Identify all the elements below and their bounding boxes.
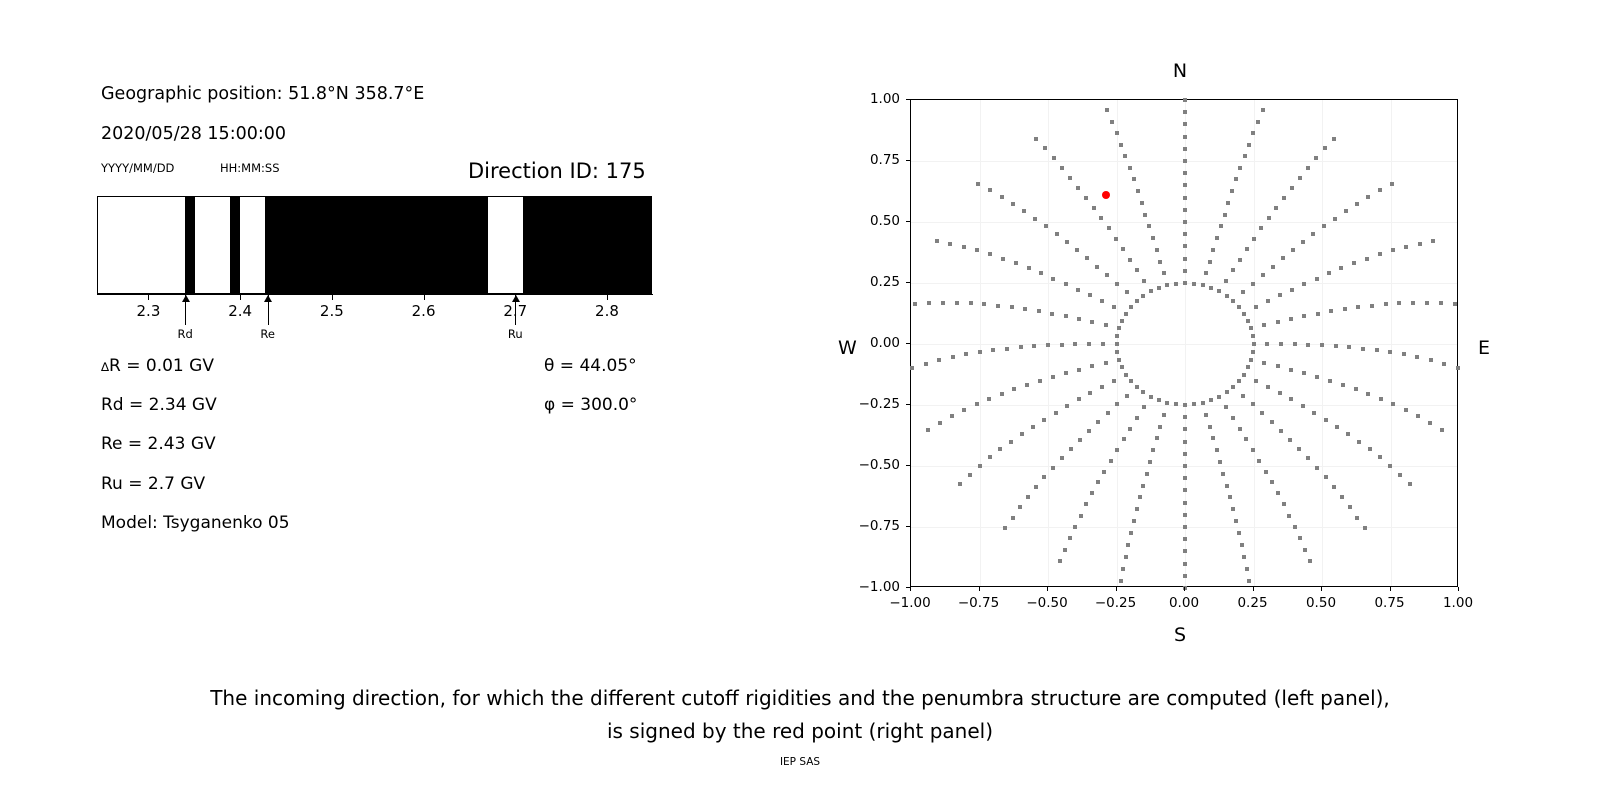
penumbra-forbidden-band bbox=[523, 197, 651, 293]
direction-point bbox=[1104, 323, 1108, 327]
direction-point bbox=[1037, 309, 1041, 313]
penumbra-forbidden-band bbox=[230, 197, 240, 293]
direction-point bbox=[1076, 288, 1080, 292]
direction-point bbox=[1303, 548, 1307, 552]
direction-point bbox=[1209, 286, 1213, 290]
direction-point bbox=[1073, 525, 1077, 529]
compass-label-west: W bbox=[838, 337, 857, 359]
direction-point bbox=[1145, 472, 1149, 476]
direction-point bbox=[1120, 365, 1124, 369]
direction-point bbox=[1215, 448, 1219, 452]
direction-point bbox=[1075, 248, 1079, 252]
direction-point bbox=[1112, 379, 1116, 383]
direction-point bbox=[998, 447, 1002, 451]
direction-point bbox=[1298, 536, 1302, 540]
direction-point bbox=[1252, 237, 1256, 241]
direction-point bbox=[1014, 261, 1018, 265]
direction-point bbox=[1060, 343, 1064, 347]
direction-point bbox=[1114, 237, 1118, 241]
penumbra-bar bbox=[97, 196, 652, 294]
direction-point bbox=[1234, 177, 1238, 181]
direction-point bbox=[1282, 502, 1286, 506]
direction-point bbox=[969, 301, 973, 305]
direction-point bbox=[1120, 319, 1124, 323]
direction-point bbox=[1271, 265, 1275, 269]
direction-point bbox=[1119, 579, 1123, 583]
direction-point bbox=[1010, 305, 1014, 309]
direction-point bbox=[1357, 440, 1361, 444]
direction-point bbox=[1064, 282, 1068, 286]
direction-point bbox=[1402, 352, 1406, 356]
direction-point bbox=[1044, 224, 1048, 228]
direction-point bbox=[955, 301, 959, 305]
direction-point bbox=[1265, 342, 1269, 346]
direction-point bbox=[1106, 411, 1110, 415]
direction-point bbox=[1022, 209, 1026, 213]
arrow-head-icon bbox=[264, 295, 272, 302]
direction-point bbox=[1251, 448, 1255, 452]
direction-point bbox=[941, 301, 945, 305]
compass-label-north: N bbox=[1173, 60, 1187, 82]
direction-point bbox=[1416, 414, 1420, 418]
y-tick-label: −0.50 bbox=[848, 457, 900, 473]
direction-id-text: Direction ID: 175 bbox=[468, 159, 646, 183]
direction-point bbox=[1085, 256, 1089, 260]
direction-point bbox=[1306, 166, 1310, 170]
direction-point bbox=[1121, 247, 1125, 251]
x-tick bbox=[1390, 587, 1391, 591]
direction-point bbox=[1251, 402, 1255, 406]
direction-point bbox=[1064, 314, 1068, 318]
direction-point bbox=[1078, 438, 1082, 442]
direction-point bbox=[1298, 176, 1302, 180]
direction-point bbox=[1060, 456, 1064, 460]
x-tick-label: −0.75 bbox=[958, 595, 999, 611]
direction-point bbox=[1221, 472, 1225, 476]
direction-point bbox=[1324, 475, 1328, 479]
direction-point bbox=[1142, 405, 1146, 409]
direction-point bbox=[991, 348, 995, 352]
direction-point bbox=[1425, 301, 1429, 305]
direction-point bbox=[1306, 456, 1310, 460]
direction-point bbox=[1257, 459, 1261, 463]
direction-point bbox=[1378, 252, 1382, 256]
direction-point bbox=[1183, 476, 1187, 480]
direction-point bbox=[1183, 452, 1187, 456]
direction-point bbox=[1266, 299, 1270, 303]
direction-point bbox=[935, 239, 939, 243]
direction-point bbox=[1356, 305, 1360, 309]
direction-point bbox=[1247, 579, 1251, 583]
direction-point bbox=[1352, 261, 1356, 265]
direction-point bbox=[1136, 189, 1140, 193]
direction-point bbox=[1034, 485, 1038, 489]
direction-point bbox=[1225, 484, 1229, 488]
direction-point bbox=[1077, 368, 1081, 372]
param-Re: Re = 2.43 GV bbox=[101, 434, 216, 454]
direction-point bbox=[1183, 415, 1187, 419]
y-tick-label: 0.75 bbox=[848, 152, 900, 168]
direction-point bbox=[1088, 293, 1092, 297]
direction-point bbox=[927, 301, 931, 305]
arrow-head-icon bbox=[182, 295, 190, 302]
direction-point bbox=[1243, 154, 1247, 158]
direction-point bbox=[1231, 299, 1235, 303]
direction-point bbox=[1135, 385, 1139, 389]
direction-point bbox=[1099, 216, 1103, 220]
direction-point bbox=[1217, 395, 1221, 399]
direction-point bbox=[1276, 320, 1280, 324]
direction-point bbox=[1069, 447, 1073, 451]
direction-point bbox=[1124, 373, 1128, 377]
direction-point bbox=[1246, 319, 1250, 323]
param-Rd: Rd = 2.34 GV bbox=[101, 395, 217, 415]
selected-direction-point[interactable] bbox=[1102, 191, 1110, 199]
direction-point bbox=[1192, 402, 1196, 406]
direction-point bbox=[1095, 265, 1099, 269]
direction-point bbox=[1128, 427, 1132, 431]
direction-point bbox=[1388, 350, 1392, 354]
direction-point bbox=[1065, 240, 1069, 244]
direction-point bbox=[1162, 271, 1166, 275]
direction-point bbox=[1126, 543, 1130, 547]
direction-point bbox=[1096, 420, 1100, 424]
direction-point bbox=[1378, 188, 1382, 192]
x-tick-label: 0.25 bbox=[1237, 595, 1267, 611]
direction-point bbox=[1183, 562, 1187, 566]
direction-point bbox=[1105, 273, 1109, 277]
direction-point bbox=[1218, 460, 1222, 464]
direction-point bbox=[1110, 120, 1114, 124]
direction-point bbox=[1183, 183, 1187, 187]
direction-point bbox=[1034, 137, 1038, 141]
direction-point bbox=[988, 455, 992, 459]
direction-point bbox=[1245, 567, 1249, 571]
x-tick-label: 0.00 bbox=[1169, 595, 1199, 611]
direction-point bbox=[1123, 154, 1127, 158]
direction-point bbox=[1088, 391, 1092, 395]
direction-point bbox=[1289, 368, 1293, 372]
direction-point bbox=[1279, 429, 1283, 433]
direction-point bbox=[1033, 217, 1037, 221]
direction-point bbox=[1354, 387, 1358, 391]
direction-point bbox=[1011, 516, 1015, 520]
direction-point bbox=[1158, 260, 1162, 264]
direction-point bbox=[1031, 425, 1035, 429]
direction-point bbox=[1140, 201, 1144, 205]
direction-point bbox=[1366, 195, 1370, 199]
direction-point bbox=[1183, 574, 1187, 578]
direction-point bbox=[1256, 120, 1260, 124]
direction-point bbox=[1032, 344, 1036, 348]
direction-point bbox=[1262, 323, 1266, 327]
datetime-text: 2020/05/28 15:00:00 bbox=[101, 124, 286, 144]
direction-point bbox=[1246, 365, 1250, 369]
direction-point bbox=[1324, 418, 1328, 422]
date-format-hint: YYYY/MM/DD bbox=[101, 161, 174, 175]
direction-point bbox=[1157, 286, 1161, 290]
direction-point bbox=[1027, 266, 1031, 270]
direction-point bbox=[1183, 403, 1187, 407]
direction-point bbox=[1398, 473, 1402, 477]
direction-point bbox=[1005, 347, 1009, 351]
x-tick-label: −0.50 bbox=[1026, 595, 1067, 611]
x-tick-label: 1.00 bbox=[1443, 595, 1473, 611]
param-delta-R: ∆R = 0.01 GV bbox=[101, 356, 214, 376]
direction-point bbox=[1329, 309, 1333, 313]
direction-point bbox=[1132, 177, 1136, 181]
direction-point bbox=[1282, 196, 1286, 200]
direction-point bbox=[1293, 525, 1297, 529]
direction-point bbox=[1100, 385, 1104, 389]
direction-point bbox=[1119, 143, 1123, 147]
direction-point bbox=[1242, 312, 1246, 316]
x-tick-label: −0.25 bbox=[1095, 595, 1136, 611]
direction-point bbox=[1129, 531, 1133, 535]
direction-point bbox=[1442, 362, 1446, 366]
direction-point bbox=[1183, 220, 1187, 224]
direction-point bbox=[1390, 182, 1394, 186]
direction-point bbox=[1000, 392, 1004, 396]
direction-point bbox=[1084, 196, 1088, 200]
y-tick-label: −1.00 bbox=[848, 579, 900, 595]
direction-point bbox=[1302, 371, 1306, 375]
direction-point bbox=[1267, 216, 1271, 220]
direction-point bbox=[1391, 402, 1395, 406]
direction-point bbox=[1026, 495, 1030, 499]
direction-point bbox=[1231, 507, 1235, 511]
direction-point bbox=[1278, 391, 1282, 395]
direction-point bbox=[937, 358, 941, 362]
direction-point bbox=[1228, 495, 1232, 499]
direction-point bbox=[1183, 147, 1187, 151]
direction-point bbox=[1344, 209, 1348, 213]
direction-point bbox=[1320, 343, 1324, 347]
direction-point bbox=[1312, 411, 1316, 415]
direction-point bbox=[988, 188, 992, 192]
direction-point bbox=[1240, 543, 1244, 547]
direction-point bbox=[1132, 519, 1136, 523]
direction-point bbox=[1183, 586, 1187, 590]
direction-point bbox=[1456, 366, 1460, 370]
direction-point bbox=[1327, 271, 1331, 275]
direction-point bbox=[1404, 245, 1408, 249]
x-tick bbox=[1047, 587, 1048, 591]
direction-point bbox=[958, 482, 962, 486]
penumbra-marker-label: Re bbox=[260, 327, 275, 341]
direction-point bbox=[1165, 283, 1169, 287]
direction-point bbox=[1254, 379, 1258, 383]
x-tick-label: 0.75 bbox=[1374, 595, 1404, 611]
direction-point bbox=[1262, 361, 1266, 365]
direction-point bbox=[1011, 202, 1015, 206]
direction-point bbox=[1293, 342, 1297, 346]
direction-point bbox=[1125, 394, 1129, 398]
direction-point bbox=[1183, 501, 1187, 505]
direction-point bbox=[1343, 307, 1347, 311]
direction-point bbox=[1090, 364, 1094, 368]
direction-point bbox=[1115, 350, 1119, 354]
direction-point bbox=[1332, 137, 1336, 141]
direction-point bbox=[1244, 437, 1248, 441]
direction-point bbox=[1234, 519, 1238, 523]
direction-point bbox=[1334, 344, 1338, 348]
direction-point bbox=[1050, 312, 1054, 316]
direction-point bbox=[1363, 526, 1367, 530]
direction-point bbox=[924, 362, 928, 366]
direction-point bbox=[1128, 258, 1132, 262]
direction-point bbox=[1231, 416, 1235, 420]
direction-point bbox=[1135, 268, 1139, 272]
direction-point bbox=[913, 302, 917, 306]
direction-point bbox=[1115, 334, 1119, 338]
direction-point bbox=[1084, 502, 1088, 506]
direction-point bbox=[978, 464, 982, 468]
param-Ru: Ru = 2.7 GV bbox=[101, 474, 205, 494]
direction-point bbox=[1109, 459, 1113, 463]
direction-point bbox=[1290, 186, 1294, 190]
direction-point bbox=[1391, 248, 1395, 252]
direction-point bbox=[1115, 282, 1119, 286]
direction-point bbox=[1238, 427, 1242, 431]
direction-point bbox=[1278, 293, 1282, 297]
direction-point bbox=[1270, 420, 1274, 424]
direction-point bbox=[1096, 480, 1100, 484]
direction-point bbox=[1019, 345, 1023, 349]
direction-point bbox=[1355, 516, 1359, 520]
direction-point bbox=[1375, 348, 1379, 352]
direction-point bbox=[1287, 514, 1291, 518]
param-theta: θ = 44.05° bbox=[544, 356, 637, 376]
direction-point bbox=[1306, 343, 1310, 347]
direction-point bbox=[1148, 460, 1152, 464]
direction-point bbox=[1079, 514, 1083, 518]
direction-point bbox=[1183, 440, 1187, 444]
direction-point bbox=[1183, 122, 1187, 126]
penumbra-forbidden-band bbox=[185, 197, 195, 293]
direction-point bbox=[1042, 475, 1046, 479]
direction-point bbox=[1225, 390, 1229, 394]
direction-point bbox=[1249, 358, 1253, 362]
direction-point bbox=[1368, 447, 1372, 451]
direction-point bbox=[982, 302, 986, 306]
direction-point bbox=[1051, 466, 1055, 470]
direction-point bbox=[1341, 383, 1345, 387]
direction-point bbox=[1439, 301, 1443, 305]
param-model: Model: Tsyganenko 05 bbox=[101, 513, 290, 533]
direction-point bbox=[1204, 413, 1208, 417]
direction-point bbox=[1245, 247, 1249, 251]
direction-point bbox=[1012, 387, 1016, 391]
direction-point bbox=[1384, 302, 1388, 306]
direction-point bbox=[1129, 305, 1133, 309]
direction-point bbox=[996, 304, 1000, 308]
direction-point bbox=[1365, 257, 1369, 261]
direction-point bbox=[1183, 488, 1187, 492]
direction-point bbox=[1151, 236, 1155, 240]
direction-point bbox=[1315, 277, 1319, 281]
direction-point bbox=[1251, 282, 1255, 286]
direction-point bbox=[1142, 279, 1146, 283]
direction-point bbox=[1379, 397, 1383, 401]
y-tick-label: 0.25 bbox=[848, 274, 900, 290]
direction-point bbox=[1366, 392, 1370, 396]
direction-point bbox=[1183, 513, 1187, 517]
direction-point bbox=[1219, 224, 1223, 228]
direction-point bbox=[1201, 401, 1205, 405]
direction-point bbox=[1143, 213, 1147, 217]
direction-point bbox=[1055, 232, 1059, 236]
direction-point bbox=[1023, 307, 1027, 311]
y-tick-label: 1.00 bbox=[848, 91, 900, 107]
direction-point bbox=[1204, 271, 1208, 275]
direction-point bbox=[962, 408, 966, 412]
direction-scatter-plot bbox=[910, 99, 1458, 587]
direction-point bbox=[1224, 279, 1228, 283]
direction-point bbox=[1141, 390, 1145, 394]
direction-point bbox=[1063, 548, 1067, 552]
direction-point bbox=[1058, 559, 1062, 563]
direction-point bbox=[1064, 371, 1068, 375]
direction-point bbox=[1046, 343, 1050, 347]
direction-point bbox=[1065, 404, 1069, 408]
gridline-vertical bbox=[1391, 100, 1392, 586]
direction-point bbox=[1158, 425, 1162, 429]
direction-point bbox=[1289, 397, 1293, 401]
caption-line-1: The incoming direction, for which the di… bbox=[210, 686, 1390, 710]
direction-point bbox=[1117, 326, 1121, 330]
direction-point bbox=[1102, 470, 1106, 474]
direction-point bbox=[1001, 257, 1005, 261]
direction-point bbox=[1090, 491, 1094, 495]
direction-point bbox=[1043, 146, 1047, 150]
y-tick-label: −0.25 bbox=[848, 396, 900, 412]
direction-point bbox=[1249, 326, 1253, 330]
direction-point bbox=[1276, 364, 1280, 368]
direction-point bbox=[1038, 379, 1042, 383]
direction-point bbox=[1241, 290, 1245, 294]
direction-point bbox=[910, 366, 914, 370]
direction-point bbox=[1183, 159, 1187, 163]
direction-point bbox=[1183, 171, 1187, 175]
direction-point bbox=[1242, 373, 1246, 377]
direction-point bbox=[1225, 294, 1229, 298]
penumbra-chart bbox=[97, 196, 652, 294]
direction-point bbox=[1141, 294, 1145, 298]
param-delta-R-value: R = 0.01 GV bbox=[109, 356, 214, 376]
direction-point bbox=[1077, 397, 1081, 401]
direction-point bbox=[1323, 146, 1327, 150]
direction-point bbox=[1428, 421, 1432, 425]
direction-point bbox=[1100, 299, 1104, 303]
direction-point bbox=[1411, 301, 1415, 305]
direction-point bbox=[968, 473, 972, 477]
direction-point bbox=[1297, 447, 1301, 451]
direction-point bbox=[1162, 413, 1166, 417]
direction-point bbox=[1135, 416, 1139, 420]
direction-point bbox=[1333, 217, 1337, 221]
direction-point bbox=[1242, 555, 1246, 559]
direction-point bbox=[1183, 525, 1187, 529]
direction-point bbox=[1397, 301, 1401, 305]
arrow-head-icon bbox=[512, 295, 520, 302]
direction-point bbox=[948, 242, 952, 246]
direction-point bbox=[1211, 436, 1215, 440]
direction-point bbox=[1051, 375, 1055, 379]
penumbra-marker-label: Rd bbox=[177, 327, 192, 341]
direction-point bbox=[1378, 455, 1382, 459]
direction-point bbox=[1018, 505, 1022, 509]
